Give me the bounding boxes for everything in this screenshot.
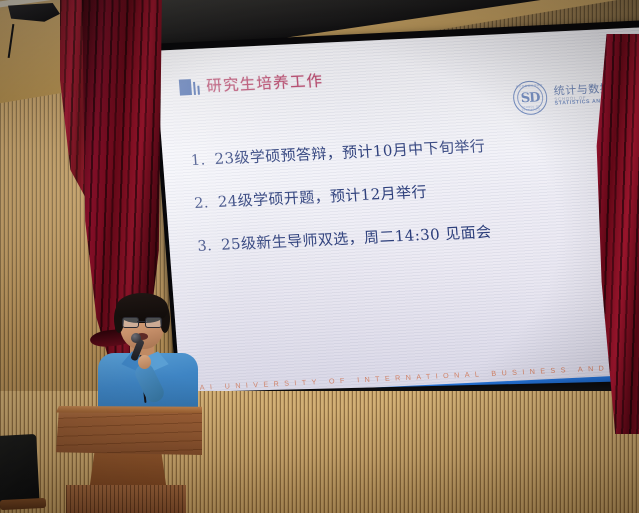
list-item: 3. 25级新生导师双选，周二14:30 见面会 bbox=[197, 213, 639, 256]
podium-top-lip bbox=[56, 406, 202, 413]
screen-surface: 研究生培养工作 统计与数据科学学院 SD SCHOOL OF STATISTIC… bbox=[155, 27, 639, 410]
bullet-text: 25级新生导师双选，周二14:30 见面会 bbox=[220, 221, 492, 255]
glasses-icon bbox=[122, 317, 162, 326]
presenter-hand bbox=[138, 355, 151, 369]
bullet-text: 24级学硕开题，预计12月举行 bbox=[217, 181, 428, 212]
page-title: 研究生培养工作 bbox=[205, 69, 323, 97]
slide-bullet-list: 1. 23级学硕预答辩，预计10月中下旬举行 2. 24级学硕开题，预计12月举… bbox=[190, 128, 639, 278]
list-item: 2. 24级学硕开题，预计12月举行 bbox=[193, 170, 639, 213]
bullet-number: 3. bbox=[197, 238, 213, 255]
podium-column bbox=[82, 449, 174, 489]
bullet-number: 1. bbox=[190, 152, 206, 169]
presenter bbox=[92, 297, 202, 417]
projection-screen: 研究生培养工作 统计与数据科学学院 SD SCHOOL OF STATISTIC… bbox=[150, 20, 639, 415]
list-item: 1. 23级学硕预答辩，预计10月中下旬举行 bbox=[190, 128, 639, 171]
bullet-text: 23级学硕预答辩，预计10月中下旬举行 bbox=[214, 135, 486, 169]
auditorium-photo: 研究生培养工作 统计与数据科学学院 SD SCHOOL OF STATISTIC… bbox=[0, 0, 639, 513]
podium-base bbox=[66, 485, 186, 513]
school-seal-icon: 统计与数据科学学院 SD SCHOOL OF STATISTICS bbox=[512, 80, 549, 116]
slide-title-row: 研究生培养工作 bbox=[178, 69, 323, 98]
bullet-number: 2. bbox=[194, 195, 210, 212]
microphone-icon bbox=[131, 333, 141, 343]
title-marker-icon bbox=[179, 77, 200, 95]
auditorium-chair bbox=[0, 434, 40, 508]
podium-desk bbox=[56, 409, 202, 455]
